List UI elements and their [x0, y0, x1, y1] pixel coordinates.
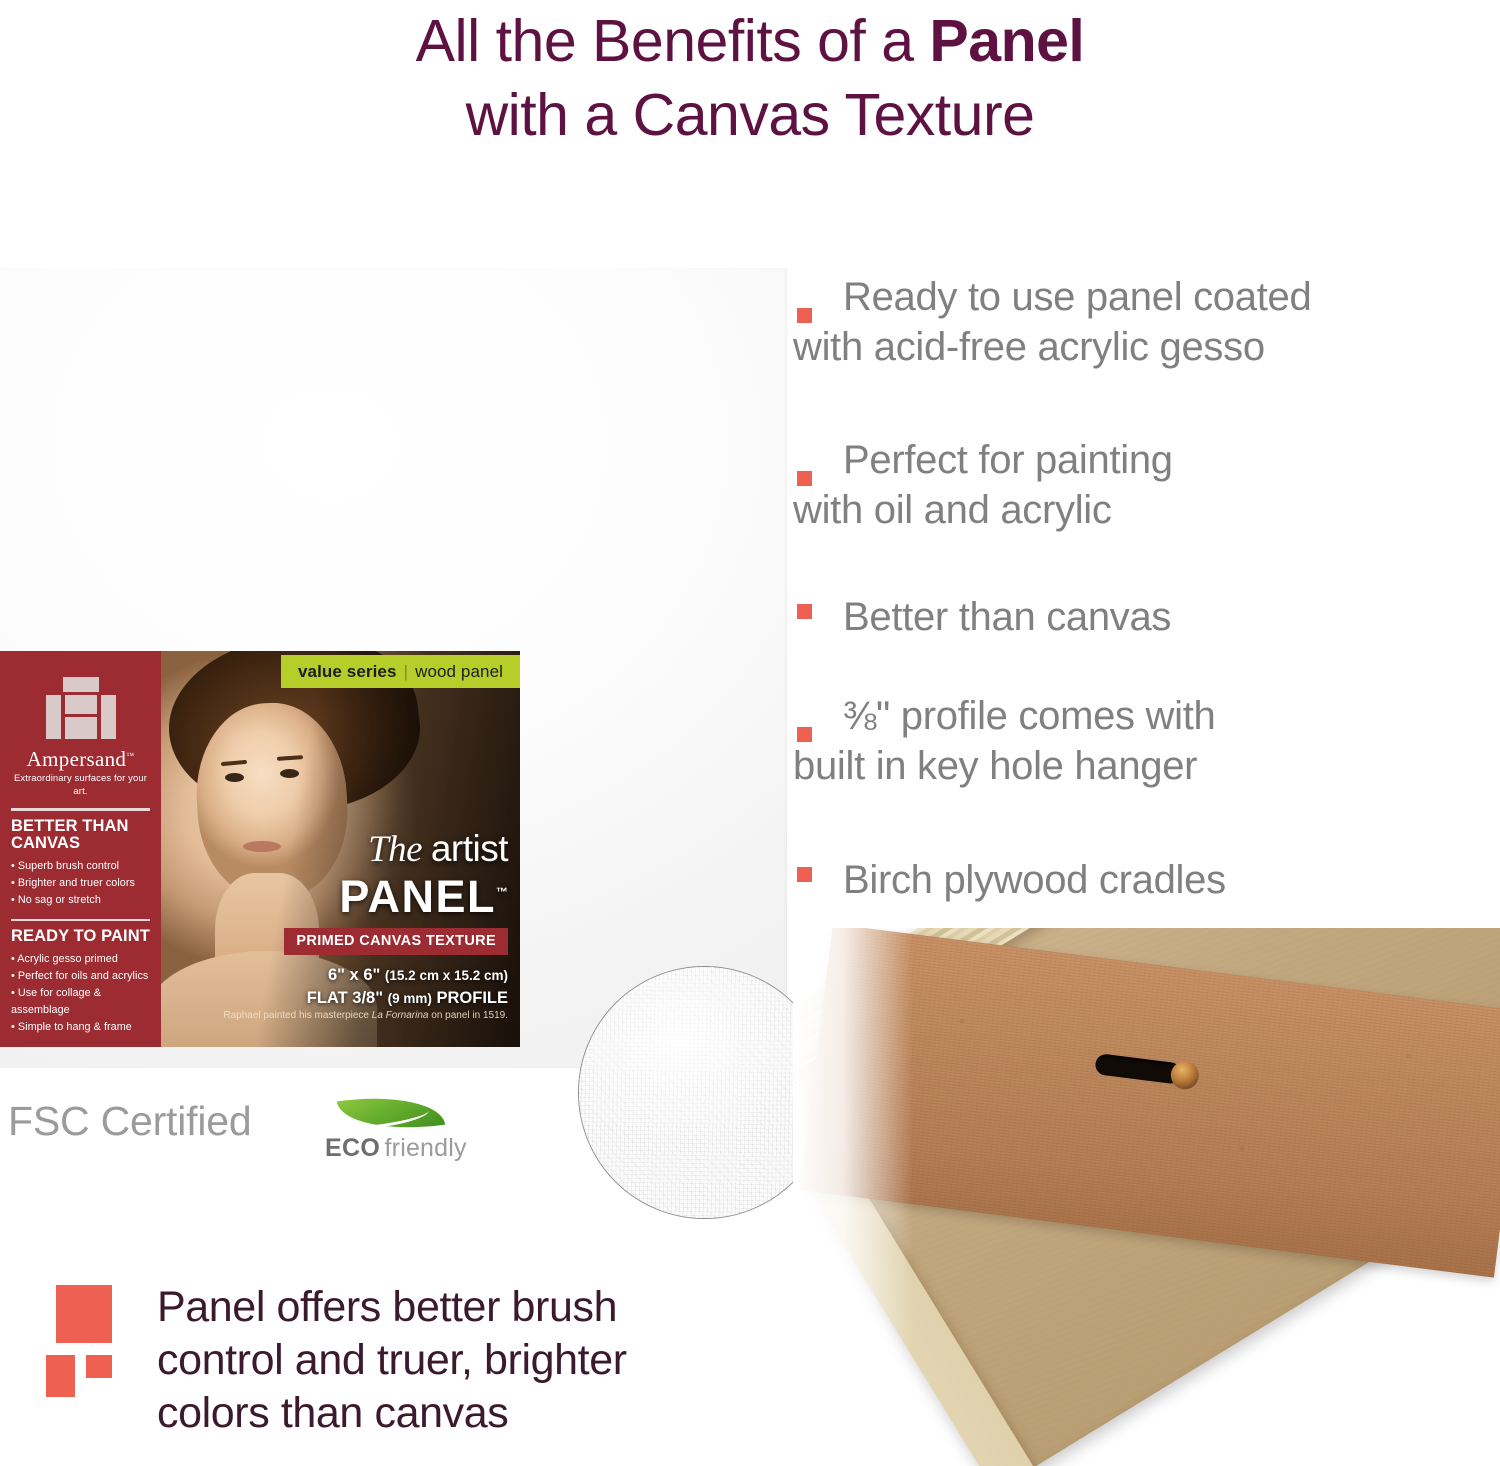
- package-info-sidebar: Ampersand™ Extraordinary surfaces for yo…: [0, 651, 161, 1047]
- page-title: All the Benefits of a Panel with a Canva…: [0, 4, 1500, 152]
- package-section-1-list: • Superb brush control • Brighter and tr…: [11, 858, 150, 909]
- package-size-specs: 6" x 6" (15.2 cm x 15.2 cm) FLAT 3/8" (9…: [216, 964, 508, 1010]
- benefit-item-birch-cradles: Birch plywood cradles: [793, 855, 1226, 905]
- benefit-text: ⅜" profile comes with built in key hole …: [793, 694, 1216, 788]
- divider-rule-1: [11, 808, 150, 811]
- package-brand-name: Ampersand™: [11, 745, 150, 770]
- credit-suffix: on panel in 1519.: [428, 1010, 508, 1021]
- benefit-text: Ready to use panel coated with acid-free…: [793, 275, 1311, 369]
- package-section-2-heading: READY TO PAINT: [11, 928, 150, 946]
- profile-row: FLAT 3/8" (9 mm) PROFILE: [216, 987, 508, 1010]
- fsc-certified-label: FSC Certified: [8, 1098, 251, 1145]
- product-trademark: ™: [496, 885, 508, 899]
- package-product-title: The artist PANEL™: [278, 829, 508, 919]
- eco-friendly-badge: ECO friendly: [325, 1090, 455, 1168]
- series-separator: |: [404, 662, 409, 682]
- size-inches: 6" x 6": [328, 966, 380, 984]
- profile-metric: (9 mm): [388, 991, 432, 1006]
- package-product-subtitle: PRIMED CANVAS TEXTURE: [284, 928, 508, 955]
- size-metric: (15.2 cm x 15.2 cm): [385, 968, 508, 983]
- product-title-artist: artist: [431, 828, 508, 869]
- product-title-script: The artist: [278, 829, 508, 870]
- benefit-item-ready-to-use: Ready to use panel coated with acid-free…: [793, 272, 1311, 372]
- package-series-band: value series | wood panel: [281, 655, 520, 688]
- bullet-square-icon: [797, 308, 812, 323]
- eco-friendly-label: ECO friendly: [325, 1134, 455, 1163]
- title-line-1-prefix: All the Benefits of a: [416, 8, 930, 74]
- bottom-caption: Panel offers better brush control and tr…: [46, 1281, 776, 1440]
- benefit-item-better-than-canvas: Better than canvas: [793, 592, 1171, 642]
- credit-artwork-name: La Fornarina: [372, 1010, 429, 1021]
- list-item: • Perfect for oils and acrylics: [11, 968, 150, 985]
- series-label: value series: [298, 662, 397, 682]
- brand-trademark: ™: [126, 751, 134, 760]
- benefit-item-profile-keyhole: ⅜" profile comes with built in key hole …: [793, 691, 1216, 791]
- size-row: 6" x 6" (15.2 cm x 15.2 cm): [216, 964, 508, 987]
- package-artwork-credit: Raphael painted his masterpiece La Forna…: [208, 1009, 508, 1022]
- panel-type-label: wood panel: [415, 662, 503, 682]
- list-item: • No sag or stretch: [11, 892, 150, 909]
- brand-text: Ampersand: [27, 747, 127, 771]
- package-artwork-area: value series | wood panel The artist PAN…: [161, 651, 520, 1047]
- benefit-text: Perfect for painting with oil and acryli…: [793, 438, 1173, 532]
- benefit-item-perfect-for-painting: Perfect for painting with oil and acryli…: [793, 435, 1173, 535]
- friendly-word: friendly: [385, 1134, 467, 1162]
- product-title-panel: PANEL™: [278, 870, 508, 919]
- ampersand-logo-icon: [46, 677, 116, 739]
- list-item: • Brighter and truer colors: [11, 875, 150, 892]
- credit-prefix: Raphael painted his masterpiece: [223, 1010, 371, 1021]
- title-line-2: with a Canvas Texture: [0, 78, 1500, 152]
- bullet-square-icon: [797, 471, 812, 486]
- divider-rule-2: [11, 919, 150, 922]
- package-brand-tagline: Extraordinary surfaces for your art.: [11, 772, 150, 798]
- list-item: • Superb brush control: [11, 858, 150, 875]
- panel-back-photo: [793, 928, 1500, 1466]
- caption-text: Panel offers better brush control and tr…: [157, 1281, 776, 1440]
- leaf-icon: [339, 1090, 447, 1136]
- bullet-square-icon: [797, 727, 812, 742]
- bullet-square-icon: [797, 604, 812, 619]
- product-title-the: The: [368, 829, 422, 870]
- ampersand-blocks-icon: [46, 1285, 118, 1397]
- list-item: • Simple to hang & frame: [11, 1019, 150, 1036]
- package-section-2-list: • Acrylic gesso primed • Perfect for oil…: [11, 951, 150, 1036]
- benefit-text: Better than canvas: [843, 595, 1171, 639]
- title-line-1: All the Benefits of a Panel: [0, 4, 1500, 78]
- package-section-1-heading: BETTER THAN CANVAS: [11, 818, 150, 853]
- title-line-1-emphasis: Panel: [929, 8, 1084, 74]
- benefit-text: Birch plywood cradles: [843, 858, 1226, 902]
- bullet-square-icon: [797, 867, 812, 882]
- profile-inches: FLAT 3/8": [307, 989, 383, 1007]
- product-title-panel-text: PANEL: [339, 871, 496, 922]
- profile-word: PROFILE: [436, 989, 508, 1007]
- product-package-photo: Ampersand™ Extraordinary surfaces for yo…: [0, 651, 520, 1047]
- eco-word: ECO: [325, 1134, 380, 1162]
- list-item: • Use for collage & assemblage: [11, 985, 150, 1019]
- list-item: • Acrylic gesso primed: [11, 951, 150, 968]
